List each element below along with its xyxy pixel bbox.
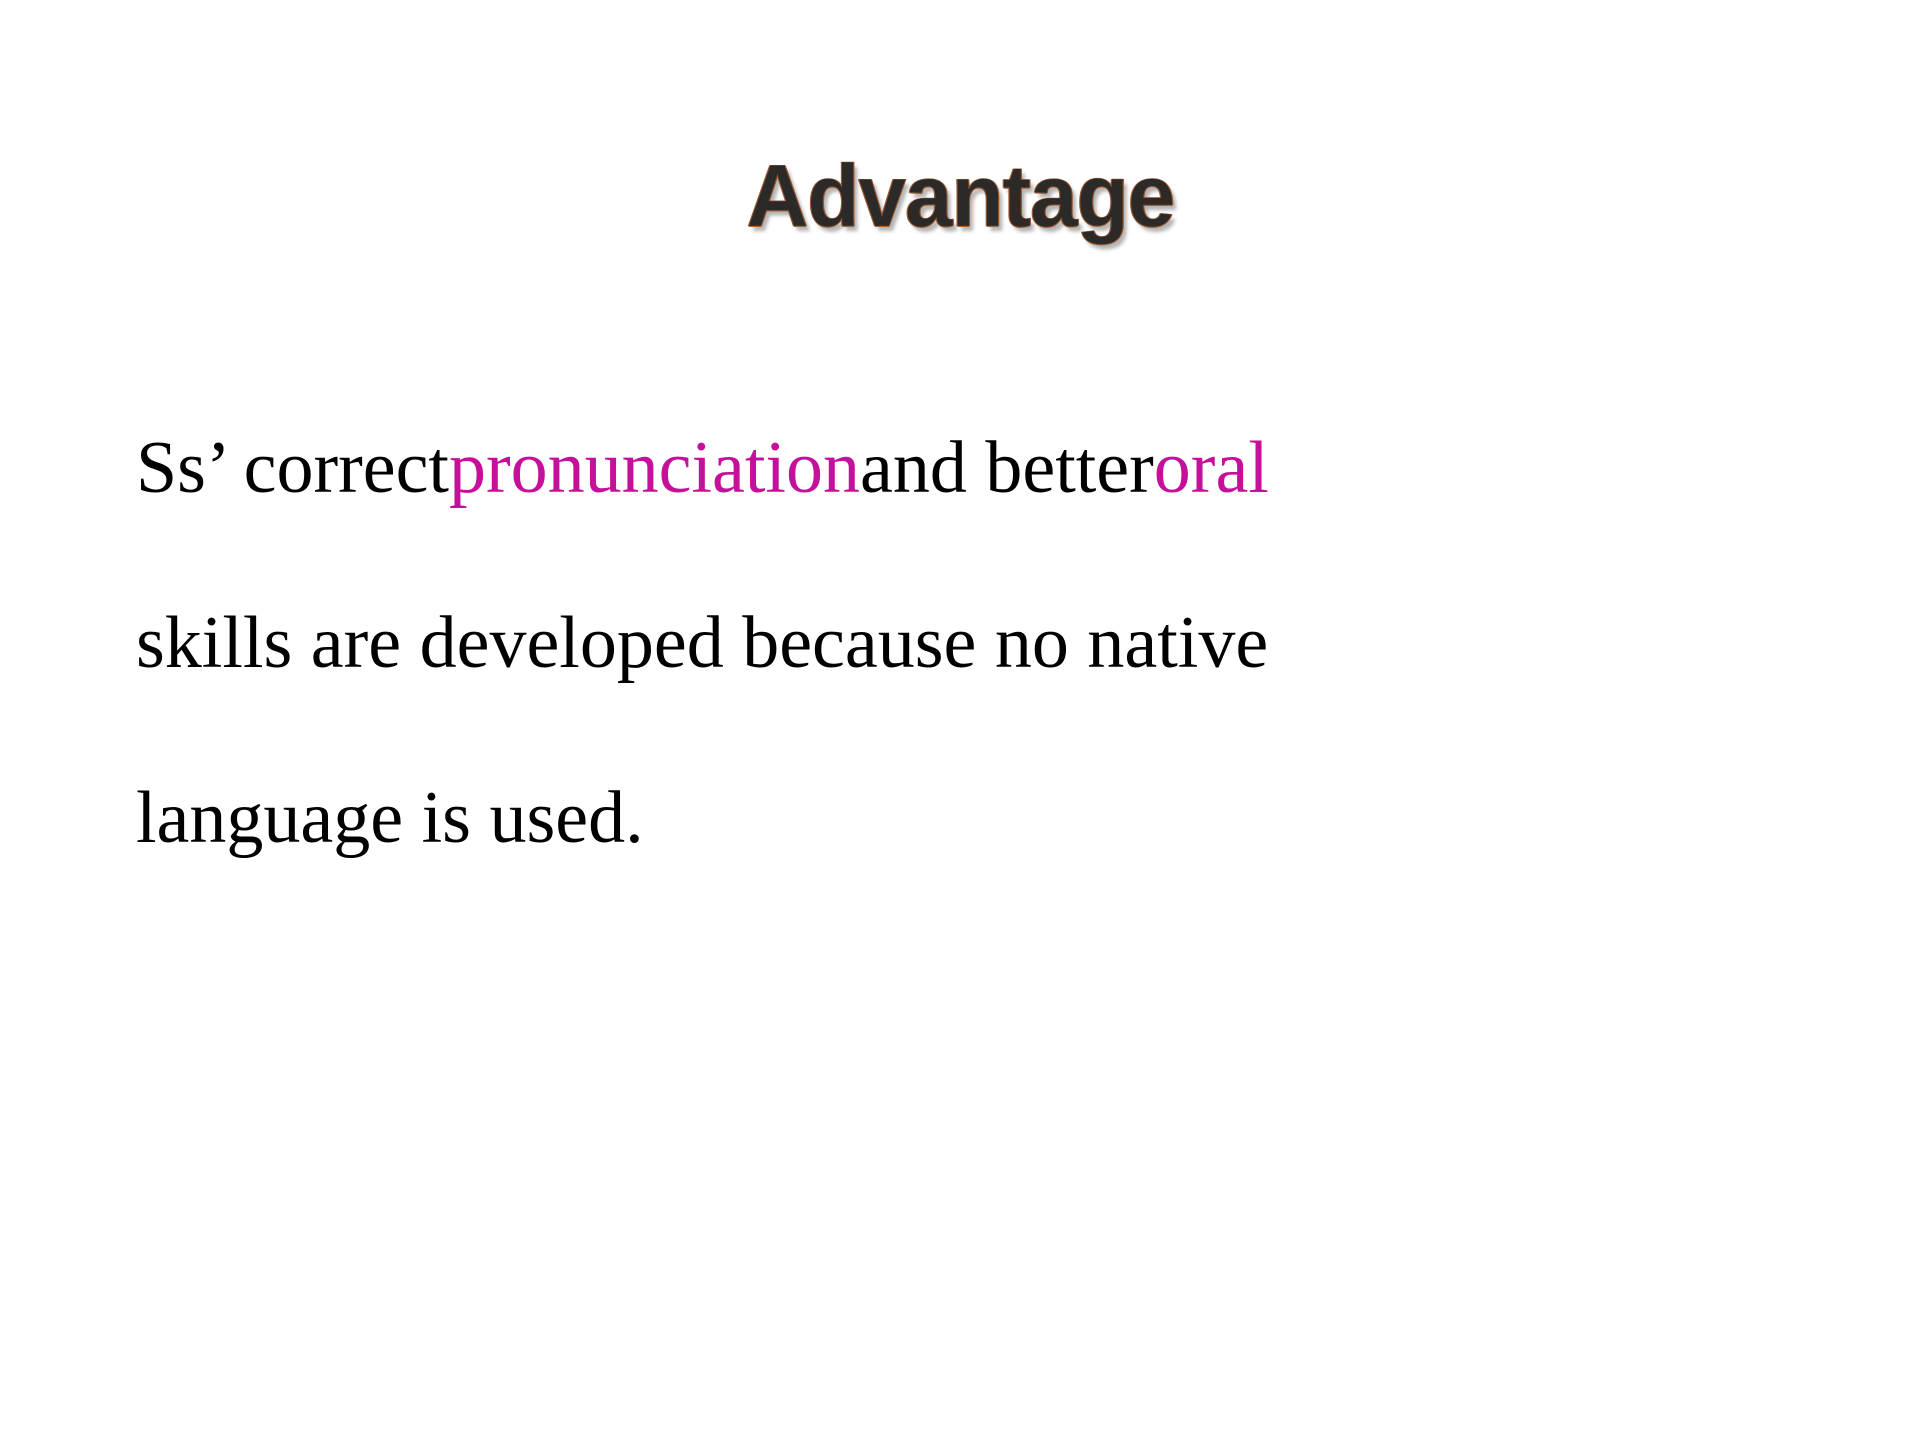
body-segment-text: language is used. (136, 781, 644, 855)
presentation-slide: Advantage Ss’ correct pronunciation and … (0, 0, 1920, 1440)
body-text-line-2: skills are developed because no native (136, 555, 1836, 730)
body-text-line-3: language is used. (136, 730, 1836, 905)
body-segment-accent-oral: oral (1154, 431, 1269, 505)
body-text-line-1: Ss’ correct pronunciation and better ora… (136, 380, 1836, 555)
slide-title-placeholder: Advantage (0, 152, 1920, 240)
page-title: Advantage (746, 152, 1174, 240)
body-segment-text: skills are developed because no native (136, 606, 1268, 680)
body-segment-accent-pronunciation: pronunciation (449, 431, 860, 505)
body-segment-text: Ss’ correct (136, 431, 449, 505)
slide-body-placeholder: Ss’ correct pronunciation and better ora… (136, 380, 1836, 905)
body-segment-text: and better (860, 431, 1154, 505)
